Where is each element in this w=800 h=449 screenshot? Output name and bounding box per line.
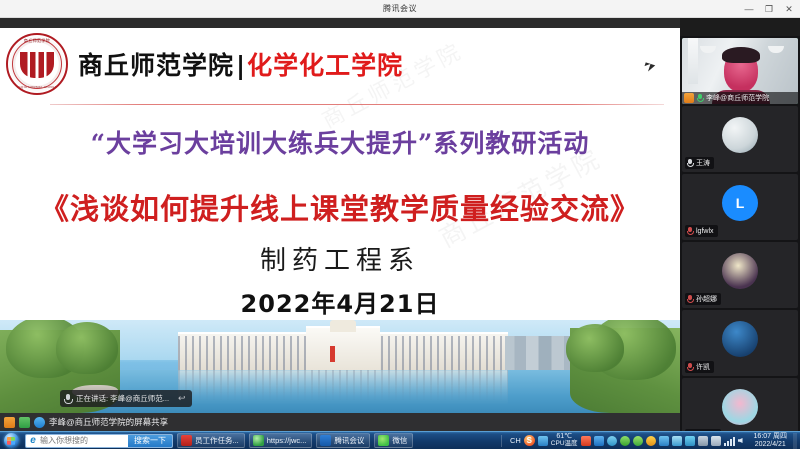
microphone-icon bbox=[64, 394, 71, 403]
taskbar-button-label: 微信 bbox=[392, 435, 407, 446]
university-logo-icon: 商丘师范学院 SHANGQIU NORMAL UNIVERSITY bbox=[6, 33, 68, 95]
ime-indicator[interactable]: CH bbox=[510, 436, 521, 445]
participant-rail[interactable]: 李峰@商丘师范学院 王涛 L lgfwlx bbox=[680, 36, 800, 449]
microphone-muted-icon bbox=[687, 227, 693, 236]
taskbar-button-browser[interactable]: https://jwc... bbox=[249, 433, 313, 448]
cpu-temperature: 61℃ CPU温度 bbox=[551, 433, 578, 448]
window-title: 腾讯会议 bbox=[383, 3, 417, 14]
minimize-icon[interactable]: — bbox=[740, 1, 758, 17]
tray-divider bbox=[501, 435, 502, 447]
slide-department: 制药工程系 bbox=[0, 240, 680, 277]
participant-name: 李峰@商丘师范学院 bbox=[706, 93, 769, 103]
tray-icon-cloud[interactable] bbox=[607, 436, 617, 446]
participant-nameplate: 许凯 bbox=[685, 361, 714, 373]
screen-share-status-bar: 李峰@商丘师范学院的屏幕共享 bbox=[0, 413, 680, 431]
taskbar-clock[interactable]: 16:07 周四 2022/4/21 bbox=[752, 433, 787, 448]
meeting-body: 商丘师范学院 商丘师范学院 商丘师范学院 SHANGQIU NORMAL UNI… bbox=[0, 18, 800, 431]
taskbar-button-label: https://jwc... bbox=[267, 436, 307, 445]
taskbar-button-vpn[interactable]: 员工作任务... bbox=[177, 433, 245, 448]
tray-icon-browser[interactable] bbox=[633, 436, 643, 446]
slide-date: 2022年4月21日 bbox=[0, 284, 680, 319]
participant-name: lgfwlx bbox=[696, 228, 714, 235]
start-button[interactable] bbox=[0, 432, 22, 449]
slide-series-line: “大学习大培训大练兵大提升”系列教研活动 bbox=[0, 124, 680, 160]
show-desktop-button[interactable] bbox=[793, 433, 797, 449]
header-divider bbox=[50, 104, 664, 105]
participant-tile[interactable]: 王涛 bbox=[682, 106, 798, 172]
participant-nameplate: 王涛 bbox=[685, 157, 714, 169]
presentation-slide: 商丘师范学院 商丘师范学院 商丘师范学院 SHANGQIU NORMAL UNI… bbox=[0, 28, 680, 413]
slide-header-titles: 商丘师范学院 | 化学化工学院 bbox=[78, 46, 403, 82]
share-top-strip bbox=[0, 18, 680, 28]
participant-nameplate: 李峰@商丘师范学院 bbox=[682, 92, 798, 104]
slide-main-title: 《浅谈如何提升线上课堂教学质量经验交流》 bbox=[0, 186, 680, 228]
taskbar-button-wechat[interactable]: 微信 bbox=[374, 433, 413, 448]
window-controls: — ❐ ✕ bbox=[740, 0, 798, 18]
participant-face bbox=[724, 50, 758, 92]
cpu-temp-value: 61℃ bbox=[556, 433, 572, 440]
participant-name: 王涛 bbox=[696, 158, 710, 168]
tray-icon-camera[interactable] bbox=[672, 436, 682, 446]
tray-icon-meeting[interactable] bbox=[659, 436, 669, 446]
host-badge-icon bbox=[684, 93, 694, 103]
speaking-indicator[interactable]: 正在讲话: 李峰@商丘师范... ↩ bbox=[60, 390, 192, 407]
search-input[interactable] bbox=[40, 436, 128, 445]
avatar bbox=[722, 117, 758, 153]
speaking-label: 正在讲话: 李峰@商丘师范... bbox=[76, 393, 169, 404]
tray-icon-vpn[interactable] bbox=[594, 436, 604, 446]
ime-toolbox-icon[interactable] bbox=[538, 436, 548, 446]
screen-share-label: 李峰@商丘师范学院的屏幕共享 bbox=[49, 416, 168, 428]
microphone-icon bbox=[687, 159, 693, 168]
taskbar-button-label: 腾讯会议 bbox=[334, 435, 364, 446]
browser-icon bbox=[253, 435, 264, 446]
microphone-muted-icon bbox=[687, 363, 693, 372]
participant-name: 许凯 bbox=[696, 362, 710, 372]
arrow-collapse-icon[interactable]: ↩ bbox=[178, 394, 186, 403]
cpu-temp-label: CPU温度 bbox=[551, 440, 578, 447]
screen-share-icon bbox=[19, 417, 30, 428]
microphone-muted-icon bbox=[687, 295, 693, 304]
tray-icon-printer[interactable] bbox=[711, 436, 721, 446]
participant-tile[interactable]: 孙超娜 bbox=[682, 242, 798, 308]
participant-name: 孙超娜 bbox=[696, 294, 717, 304]
wechat-icon bbox=[378, 435, 389, 446]
participant-nameplate: lgfwlx bbox=[685, 225, 718, 237]
title-separator: | bbox=[236, 51, 245, 80]
tray-icon-download[interactable] bbox=[646, 436, 656, 446]
microphone-icon bbox=[34, 417, 45, 428]
tray-icon-antivirus[interactable] bbox=[581, 436, 591, 446]
screen-root: 腾讯会议 — ❐ ✕ 商丘师范学院 商丘师范学院 商丘师范学院 SHANGQIU… bbox=[0, 0, 800, 449]
vpn-icon bbox=[181, 435, 192, 446]
participant-tile[interactable]: 许凯 bbox=[682, 310, 798, 376]
network-icon[interactable] bbox=[724, 436, 735, 446]
microphone-icon bbox=[697, 94, 703, 103]
tray-icon-updater[interactable] bbox=[620, 436, 630, 446]
clock-date: 2022/4/21 bbox=[755, 441, 786, 448]
tray-icon-player[interactable] bbox=[685, 436, 695, 446]
window-titlebar: 腾讯会议 — ❐ ✕ bbox=[0, 0, 800, 18]
windows-logo-icon bbox=[4, 433, 19, 448]
slide-header: 商丘师范学院 SHANGQIU NORMAL UNIVERSITY 商丘师范学院… bbox=[0, 32, 680, 96]
taskbar-button-meeting[interactable]: 腾讯会议 bbox=[316, 433, 370, 448]
shared-screen-region[interactable]: 商丘师范学院 商丘师范学院 商丘师范学院 SHANGQIU NORMAL UNI… bbox=[0, 28, 680, 413]
avatar bbox=[722, 253, 758, 289]
browser-icon: e bbox=[26, 435, 40, 447]
maximize-icon[interactable]: ❐ bbox=[760, 1, 778, 17]
sogou-icon[interactable]: S bbox=[524, 435, 535, 446]
clock-time: 16:07 周四 bbox=[754, 433, 787, 440]
participant-nameplate: 孙超娜 bbox=[685, 293, 721, 305]
taskbar-search[interactable]: e 搜索一下 bbox=[25, 434, 173, 448]
tencent-meeting-icon bbox=[320, 435, 331, 446]
university-name: 商丘师范学院 bbox=[78, 46, 234, 82]
windows-taskbar: e 搜索一下 员工作任务... https://jwc... 腾讯会议 微信 C… bbox=[0, 431, 800, 449]
avatar bbox=[722, 321, 758, 357]
search-button[interactable]: 搜索一下 bbox=[128, 434, 172, 448]
tray-icon-notes[interactable] bbox=[698, 436, 708, 446]
college-name: 化学化工学院 bbox=[247, 46, 403, 82]
system-tray: CH S 61℃ CPU温度 16:07 周四 2022/4/21 bbox=[496, 433, 800, 449]
avatar bbox=[722, 389, 758, 425]
participant-tile[interactable]: 李峰@商丘师范学院 bbox=[682, 38, 798, 104]
volume-icon[interactable] bbox=[738, 436, 749, 446]
close-icon[interactable]: ✕ bbox=[780, 1, 798, 17]
host-badge-icon bbox=[4, 417, 15, 428]
participant-tile[interactable]: L lgfwlx bbox=[682, 174, 798, 240]
avatar: L bbox=[722, 185, 758, 221]
taskbar-button-label: 员工作任务... bbox=[195, 435, 239, 446]
